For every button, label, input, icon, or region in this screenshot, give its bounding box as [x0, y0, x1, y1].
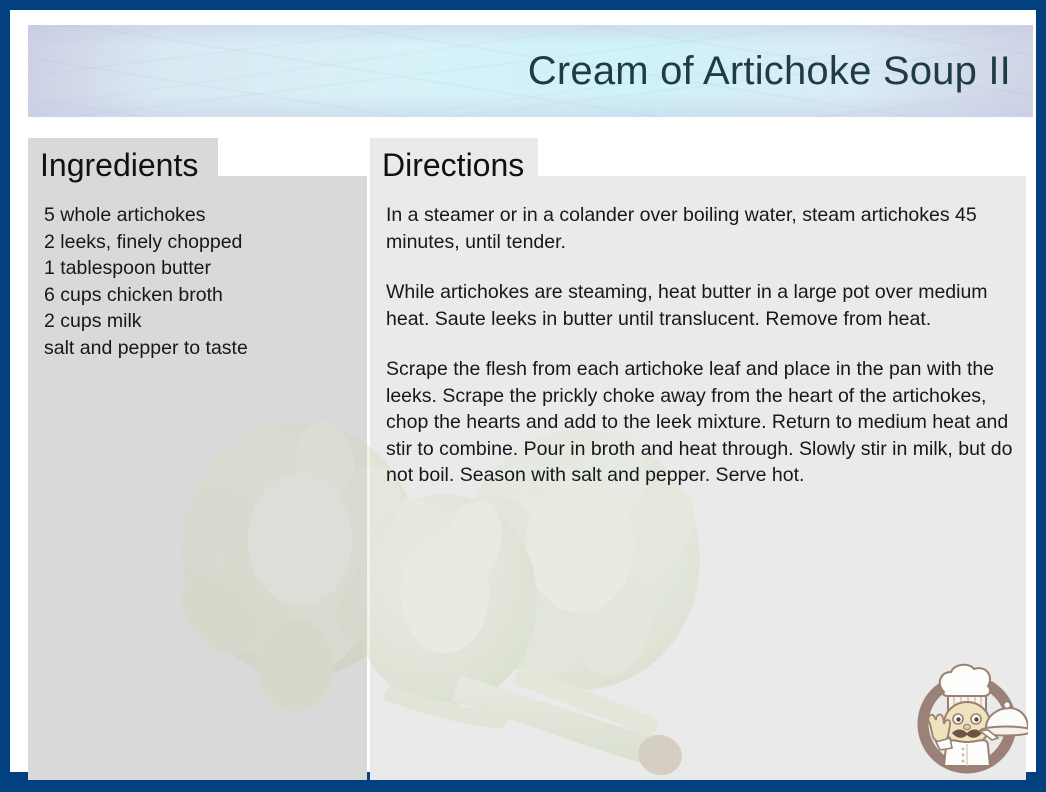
list-item: 6 cups chicken broth	[44, 282, 354, 309]
list-item: salt and pepper to taste	[44, 335, 354, 362]
list-item: 1 tablespoon butter	[44, 255, 354, 282]
recipe-card-inner: Cream of Artichoke Soup II	[10, 10, 1036, 772]
page-title: Cream of Artichoke Soup II	[528, 50, 1011, 92]
ingredients-list: 5 whole artichokes 2 leeks, finely chopp…	[44, 202, 354, 361]
ingredients-heading: Ingredients	[28, 138, 218, 186]
direction-step: Scrape the flesh from each artichoke lea…	[386, 356, 1022, 489]
direction-step: While artichokes are steaming, heat butt…	[386, 279, 1022, 332]
directions-heading: Directions	[370, 138, 538, 186]
serving-cloche-icon	[980, 702, 1028, 741]
list-item: 2 leeks, finely chopped	[44, 229, 354, 256]
list-item: 5 whole artichokes	[44, 202, 354, 229]
directions-body: In a steamer or in a colander over boili…	[386, 202, 1022, 489]
direction-step: In a steamer or in a colander over boili…	[386, 202, 1022, 255]
chef-mascot-logo	[906, 654, 1028, 776]
recipe-card-frame: Cream of Artichoke Soup II	[0, 0, 1046, 792]
title-banner: Cream of Artichoke Soup II	[28, 25, 1033, 117]
list-item: 2 cups milk	[44, 308, 354, 335]
